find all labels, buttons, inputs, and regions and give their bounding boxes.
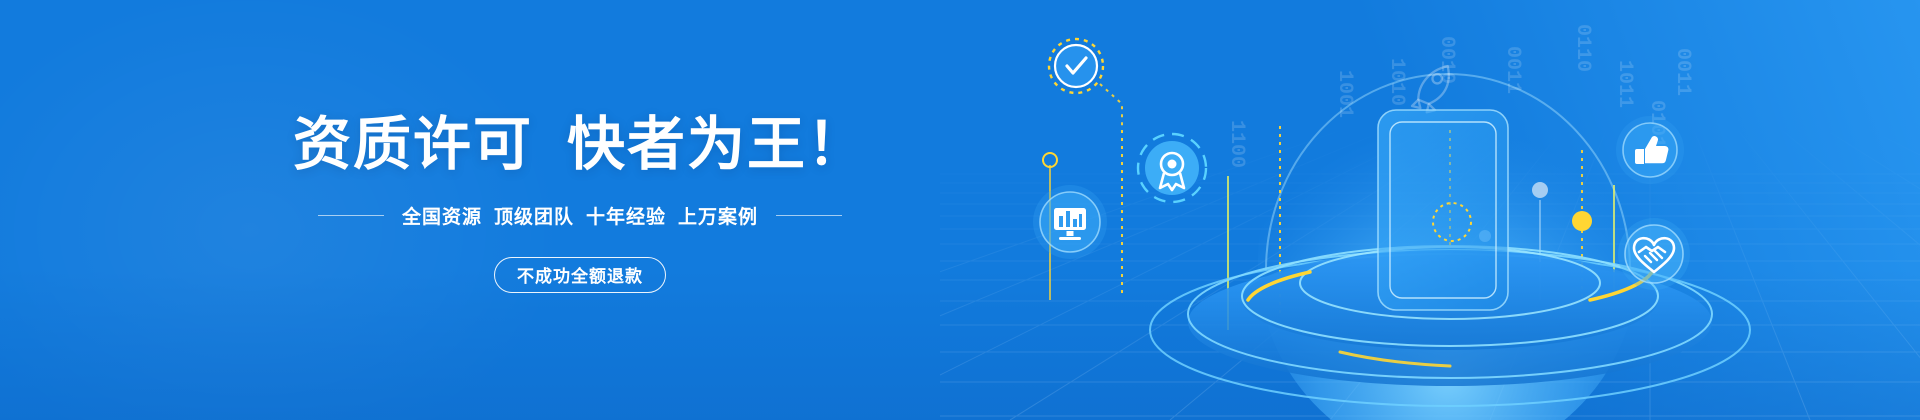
svg-text:0011: 0011 bbox=[1501, 46, 1524, 94]
background-wash-right bbox=[1160, 0, 1920, 420]
divider-right bbox=[776, 215, 842, 216]
chart-monitor-icon bbox=[1033, 185, 1107, 259]
subtitle-item-1: 顶级团队 bbox=[494, 207, 574, 228]
divider-left bbox=[318, 215, 384, 216]
page-title: 资质许可快者为王！ bbox=[293, 116, 867, 174]
promo-banner: 资质许可快者为王！ 全国资源顶级团队十年经验上万案例 不成功全额退款 bbox=[0, 0, 1920, 420]
subtitle-text: 全国资源顶级团队十年经验上万案例 bbox=[402, 202, 758, 229]
svg-text:0010: 0010 bbox=[1435, 36, 1458, 84]
svg-text:1100: 1100 bbox=[1225, 120, 1248, 168]
svg-text:1011: 1011 bbox=[1613, 60, 1636, 108]
svg-text:1010: 1010 bbox=[1385, 58, 1408, 106]
svg-text:0110: 0110 bbox=[1571, 24, 1594, 72]
subtitle-item-3: 上万案例 bbox=[678, 207, 758, 228]
refund-guarantee-button[interactable]: 不成功全额退款 bbox=[494, 257, 666, 293]
banner-copy-block: 资质许可快者为王！ 全国资源顶级团队十年经验上万案例 不成功全额退款 bbox=[0, 0, 1160, 420]
phone-card bbox=[1378, 110, 1508, 310]
subtitle-row: 全国资源顶级团队十年经验上万案例 bbox=[318, 202, 842, 229]
handshake-heart-icon bbox=[1618, 218, 1690, 290]
svg-text:0011: 0011 bbox=[1671, 48, 1694, 96]
thumbs-up-icon bbox=[1616, 116, 1684, 184]
platform-chip bbox=[1433, 203, 1592, 241]
svg-text:1001: 1001 bbox=[1333, 70, 1356, 118]
headline-part-2: 快者为王！ bbox=[567, 112, 867, 177]
dome-glow bbox=[1258, 62, 1638, 420]
headline-part-1: 资质许可 bbox=[293, 112, 533, 177]
rocket-icon bbox=[1412, 66, 1449, 112]
subtitle-item-2: 十年经验 bbox=[586, 207, 666, 228]
subtitle-item-0: 全国资源 bbox=[402, 207, 482, 228]
